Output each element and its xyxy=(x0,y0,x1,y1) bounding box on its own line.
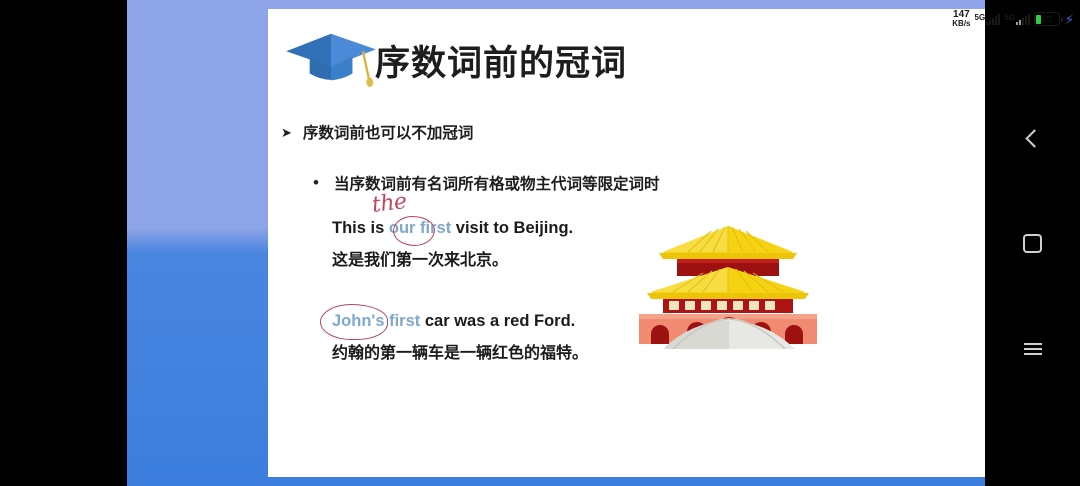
example-sentence-1: This is our first visit to Beijing. 这是我们… xyxy=(332,219,573,270)
signal-bars-icon xyxy=(1016,14,1030,25)
arrow-bullet-icon: ➤ xyxy=(281,126,292,139)
home-button[interactable] xyxy=(1016,226,1050,260)
page-title: 序数词前的冠词 xyxy=(375,35,627,86)
signal-bars-icon xyxy=(986,14,1000,25)
status-bar: 147 KB/s 5G 5G 20 ⚡ xyxy=(952,6,1074,32)
example-2-highlight: John's first xyxy=(332,312,420,330)
sim1-signal-indicator: 5G xyxy=(975,14,1001,25)
example-sentence-2: John's first car was a red Ford. 约翰的第一辆车… xyxy=(332,312,588,363)
dot-bullet-icon: • xyxy=(313,177,319,189)
handwritten-annotation-the: the xyxy=(371,189,408,218)
menu-hamburger-icon xyxy=(1024,343,1042,355)
tiananmen-gate-illustration xyxy=(633,204,823,349)
menu-button[interactable] xyxy=(1016,332,1050,366)
battery-percent-label: 20 xyxy=(1035,14,1059,24)
example-1-suffix: visit to Beijing. xyxy=(451,219,573,237)
bullet-item-2: • 当序数词前有名词所有格或物主代词等限定词时 xyxy=(313,172,659,194)
example-1-highlight: our first xyxy=(389,219,451,237)
example-1-english: This is our first visit to Beijing. xyxy=(332,219,573,238)
back-button[interactable] xyxy=(1016,121,1050,155)
sim2-signal-indicator: 5G xyxy=(1004,14,1030,25)
example-2-english: John's first car was a red Ford. xyxy=(332,312,588,331)
example-2-chinese: 约翰的第一辆车是一辆红色的福特。 xyxy=(332,339,588,363)
back-chevron-icon xyxy=(1025,129,1043,147)
android-nav-rail xyxy=(985,0,1080,486)
slide-canvas[interactable]: 序数词前的冠词 ➤ 序数词前也可以不加冠词 • 当序数词前有名词所有格或物主代词… xyxy=(268,9,1080,477)
network-speed-indicator: 147 KB/s xyxy=(952,10,970,27)
sim1-network-label: 5G xyxy=(975,14,986,22)
example-1-prefix: This is xyxy=(332,219,389,237)
charging-bolt-icon: ⚡ xyxy=(1065,13,1074,26)
bullet-item-1: ➤ 序数词前也可以不加冠词 xyxy=(281,121,473,143)
presentation-frame: 序数词前的冠词 ➤ 序数词前也可以不加冠词 • 当序数词前有名词所有格或物主代词… xyxy=(127,0,985,486)
example-1-chinese: 这是我们第一次来北京。 xyxy=(332,246,573,270)
home-square-icon xyxy=(1023,234,1042,253)
sim2-network-label: 5G xyxy=(1004,14,1015,22)
bullet-item-1-label: 序数词前也可以不加冠词 xyxy=(303,121,474,143)
screen: 序数词前的冠词 ➤ 序数词前也可以不加冠词 • 当序数词前有名词所有格或物主代词… xyxy=(0,0,1080,486)
graduation-cap-icon xyxy=(282,28,380,90)
example-2-suffix: car was a red Ford. xyxy=(420,312,575,330)
network-speed-unit: KB/s xyxy=(952,20,970,28)
battery-icon: 20 xyxy=(1034,12,1060,26)
